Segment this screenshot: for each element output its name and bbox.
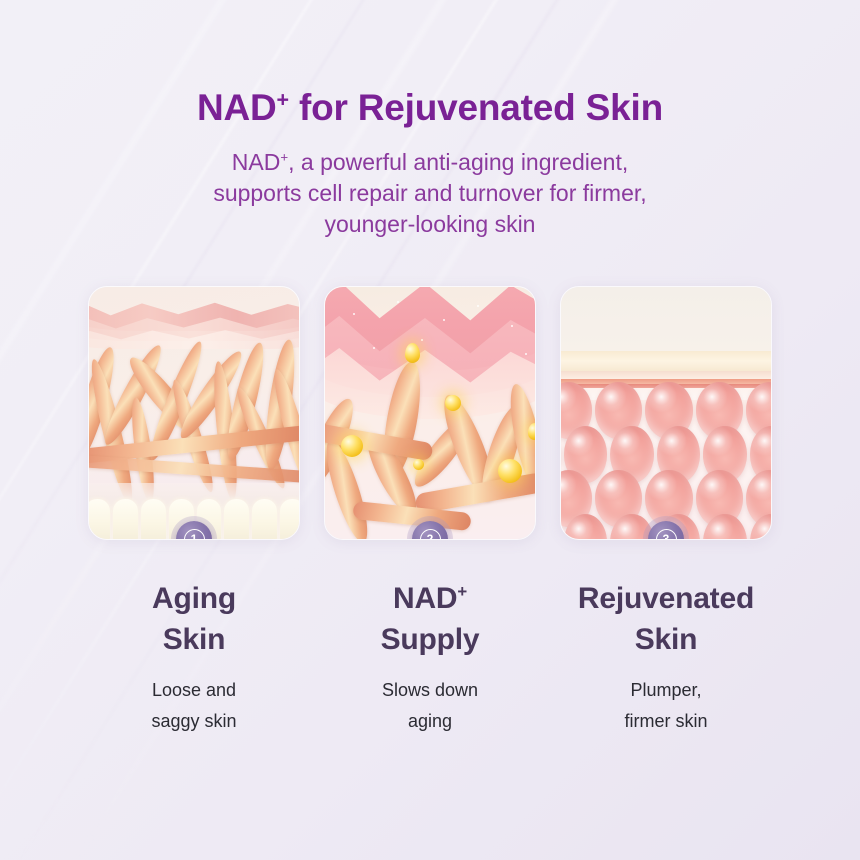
step-2-description: Slows down aging <box>324 675 536 737</box>
step-3-desc-line-2: firmer skin <box>560 706 772 737</box>
infographic-canvas: NAD+ for Rejuvenated Skin NAD+, a powerf… <box>0 0 860 860</box>
subtitle-superscript: + <box>280 149 288 164</box>
step-1-title-line-2: Skin <box>88 619 300 660</box>
cell-capsule <box>113 499 138 540</box>
subtitle: NAD+, a powerful anti-aging ingredient, … <box>0 147 860 241</box>
step-2-title-line-1: NAD+ <box>324 578 536 619</box>
plump-cell-grid <box>560 395 772 540</box>
rejuvenated-skin-image: 3 <box>560 286 772 540</box>
subtitle-line-2: supports cell repair and turnover for fi… <box>0 178 860 209</box>
sparkle <box>477 305 479 307</box>
step-1-desc-line-1: Loose and <box>88 675 300 706</box>
step-3-title-line-2: Skin <box>560 619 772 660</box>
step-2-title-main: NAD <box>393 582 457 615</box>
step-2-title-line-2: Supply <box>324 619 536 660</box>
step-column-3: 3 Rejuvenated Skin Plumper, firmer skin <box>560 286 772 737</box>
nad-supply-image: 2 <box>324 286 536 540</box>
step-3-description: Plumper, firmer skin <box>560 675 772 737</box>
aging-skin-collagen-illustration <box>89 287 299 539</box>
subtitle-line-3: younger-looking skin <box>0 209 860 240</box>
nad-droplet <box>528 423 536 440</box>
skin-layer <box>561 287 771 351</box>
sparkle <box>525 353 527 355</box>
cell-capsule <box>280 499 300 540</box>
sparkle <box>373 347 375 349</box>
step-column-2: 2 NAD+ Supply Slows down aging <box>324 286 536 737</box>
step-1-description: Loose and saggy skin <box>88 675 300 737</box>
step-3-desc-line-1: Plumper, <box>560 675 772 706</box>
step-2-title-superscript: + <box>457 582 467 601</box>
step-2-desc-line-1: Slows down <box>324 675 536 706</box>
page-title: NAD+ for Rejuvenated Skin <box>0 88 860 129</box>
cell-capsule <box>88 499 110 540</box>
nad-supply-droplets-illustration <box>325 287 535 539</box>
cell-capsule <box>252 499 277 540</box>
nad-droplet <box>445 395 461 411</box>
header: NAD+ for Rejuvenated Skin NAD+, a powerf… <box>0 0 860 240</box>
page-title-main: NAD <box>197 87 277 128</box>
subtitle-line-1: NAD+, a powerful anti-aging ingredient, <box>0 147 860 178</box>
step-3-title: Rejuvenated Skin <box>560 578 772 661</box>
step-1-title: Aging Skin <box>88 578 300 661</box>
skin-layer <box>561 371 771 379</box>
cell-capsule <box>224 499 249 540</box>
subtitle-line-1-rest: , a powerful anti-aging ingredient, <box>288 149 628 175</box>
step-3-title-line-1: Rejuvenated <box>530 578 802 619</box>
nad-droplet <box>498 459 522 483</box>
rejuvenated-skin-spheres-illustration <box>561 287 771 539</box>
page-title-rest: for Rejuvenated Skin <box>289 87 663 128</box>
step-badge-1-number: 1 <box>184 529 205 541</box>
step-column-1: 1 Aging Skin Loose and saggy skin <box>88 286 300 737</box>
step-badge-2-number: 2 <box>420 529 441 541</box>
step-columns: 1 Aging Skin Loose and saggy skin <box>0 286 860 737</box>
sparkle <box>511 325 513 327</box>
step-1-desc-line-2: saggy skin <box>88 706 300 737</box>
step-badge-3-number: 3 <box>656 529 677 541</box>
sparkle <box>353 313 355 315</box>
step-2-title: NAD+ Supply <box>324 578 536 661</box>
page-title-superscript: + <box>277 88 289 112</box>
sparkle <box>421 339 423 341</box>
cell-capsule <box>141 499 166 540</box>
step-2-desc-line-2: aging <box>324 706 536 737</box>
subtitle-lead: NAD <box>232 149 281 175</box>
aging-skin-image: 1 <box>88 286 300 540</box>
sparkle <box>397 301 399 303</box>
step-1-title-line-1: Aging <box>88 578 300 619</box>
nad-droplet <box>413 459 424 470</box>
skin-layer <box>561 351 771 371</box>
nad-droplet <box>341 435 363 457</box>
nad-droplet <box>405 343 420 363</box>
sparkle <box>443 319 445 321</box>
